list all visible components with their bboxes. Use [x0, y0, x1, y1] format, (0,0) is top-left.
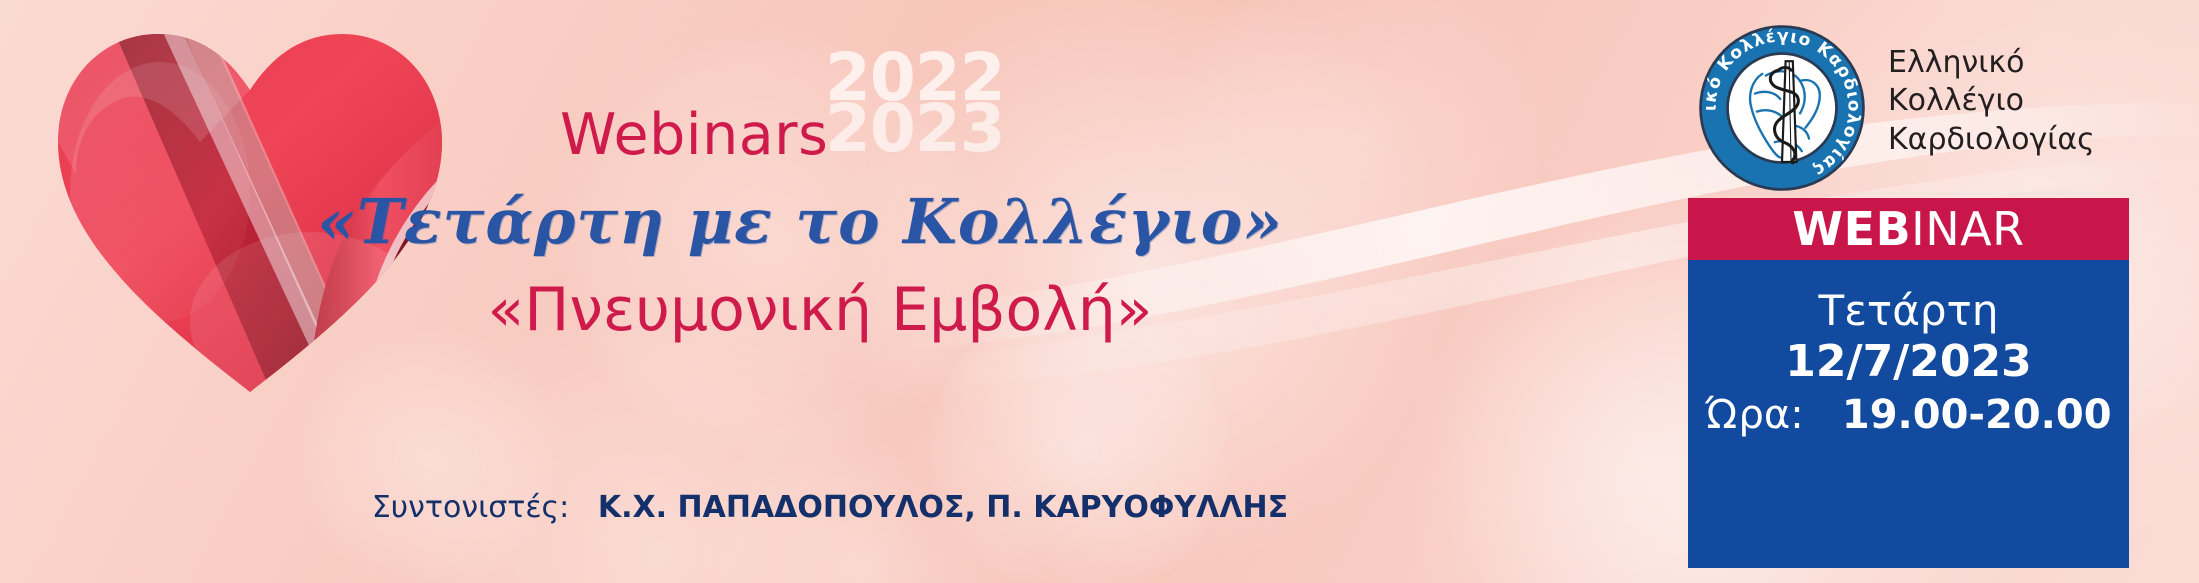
year-range: 2022 2023 [825, 52, 1005, 155]
moderators-names: Κ.Χ. ΠΑΠΑΔΟΠΟΥΛΟΣ, Π. ΚΑΡΥΟΦΥΛΛΗΣ [598, 490, 1288, 525]
webinar-time-label: Ώρα: [1705, 392, 1803, 438]
webinar-time-value: 19.00-20.00 [1842, 392, 2112, 438]
series-title: «Τετάρτη με το Κολλέγιο» [0, 185, 1600, 258]
webinar-header-light: INAR [1911, 202, 2024, 256]
webinars-label: Webinars [560, 102, 828, 168]
moderators-label: Συντονιστές: [372, 490, 569, 525]
college-badge-icon: Ελληνικό Κολλέγιο Καρδιολογίας [1682, 18, 1882, 198]
college-name-line-3: Καρδιολογίας [1888, 121, 2188, 159]
topic-title: «Πνευμονική Εμβολή» [0, 275, 1640, 345]
college-name-line-1: Ελληνικό [1888, 44, 2188, 82]
webinar-info-card: WEBINAR Τετάρτη 12/7/2023 Ώρα: 19.00-20.… [1688, 198, 2129, 568]
webinar-date: 12/7/2023 [1785, 336, 2031, 389]
webinars-heading-row: Webinars 2022 2023 [560, 52, 1320, 172]
webinar-time-row: Ώρα: 19.00-20.00 [1705, 390, 2111, 440]
college-name: Ελληνικό Κολλέγιο Καρδιολογίας [1888, 44, 2188, 159]
webinar-details: Τετάρτη 12/7/2023 Ώρα: 19.00-20.00 [1688, 260, 2129, 568]
moderators-line: Συντονιστές: Κ.Χ. ΠΑΠΑΔΟΠΟΥΛΟΣ, Π. ΚΑΡΥΟ… [0, 490, 1660, 525]
webinar-banner: Webinars 2022 2023 «Τετάρτη με το Κολλέγ… [0, 0, 2199, 583]
webinar-header: WEBINAR [1688, 198, 2129, 260]
webinar-header-bold: WEB [1792, 202, 1911, 256]
college-name-line-2: Κολλέγιο [1888, 82, 2188, 120]
webinar-day: Τετάρτη [1819, 286, 1999, 336]
year-second: 2023 [825, 103, 1005, 154]
